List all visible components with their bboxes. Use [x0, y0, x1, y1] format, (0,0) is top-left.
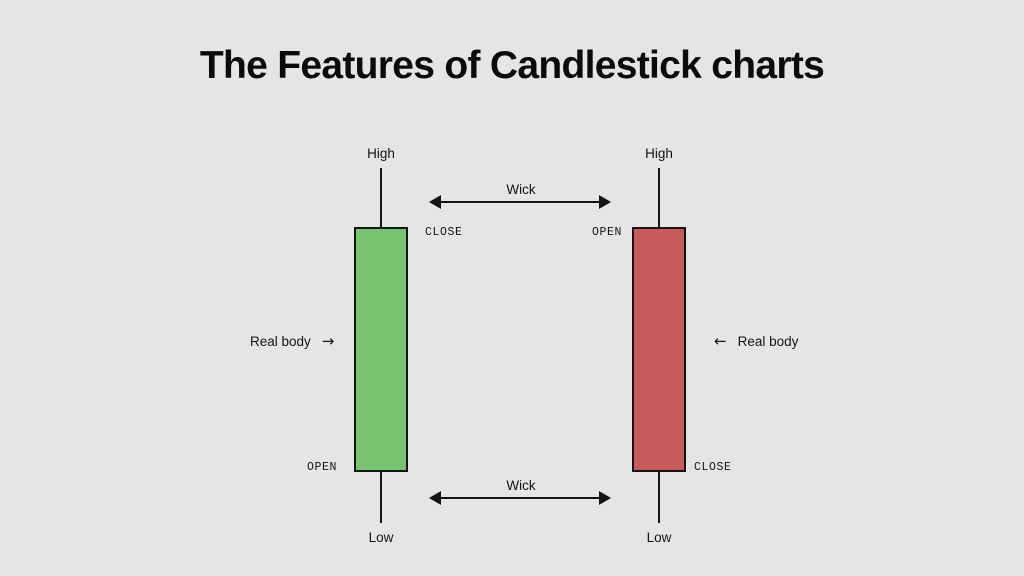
annotation-real-body-bullish: Real body → [250, 334, 334, 349]
diagram-canvas: The Features of Candlestick charts High … [0, 0, 1024, 576]
lower-wick-bearish [658, 471, 660, 523]
lower-wick-bullish [380, 471, 382, 523]
annotation-real-body-bearish: ← Real body [714, 334, 798, 349]
upper-wick-bearish [658, 168, 660, 228]
arrow-left-icon: ← [714, 334, 727, 349]
upper-wick-bullish [380, 168, 382, 228]
label-open-bearish: OPEN [592, 226, 622, 239]
label-wick-upper: Wick [506, 182, 535, 197]
real-body-bullish [354, 227, 408, 472]
page-title: The Features of Candlestick charts [0, 44, 1024, 88]
label-low-bearish: Low [647, 530, 672, 545]
candle-bullish [381, 0, 382, 576]
candle-bearish [659, 0, 660, 576]
label-close-bearish: CLOSE [694, 461, 732, 474]
label-open-bullish: OPEN [307, 461, 337, 474]
label-wick-lower: Wick [506, 478, 535, 493]
real-body-label-bearish: Real body [738, 334, 799, 349]
label-low-bullish: Low [369, 530, 394, 545]
label-high-bullish: High [367, 146, 395, 161]
label-high-bearish: High [645, 146, 673, 161]
real-body-bearish [632, 227, 686, 472]
arrow-right-icon: → [322, 334, 335, 349]
label-close-bullish: CLOSE [425, 226, 463, 239]
real-body-label-bullish: Real body [250, 334, 311, 349]
